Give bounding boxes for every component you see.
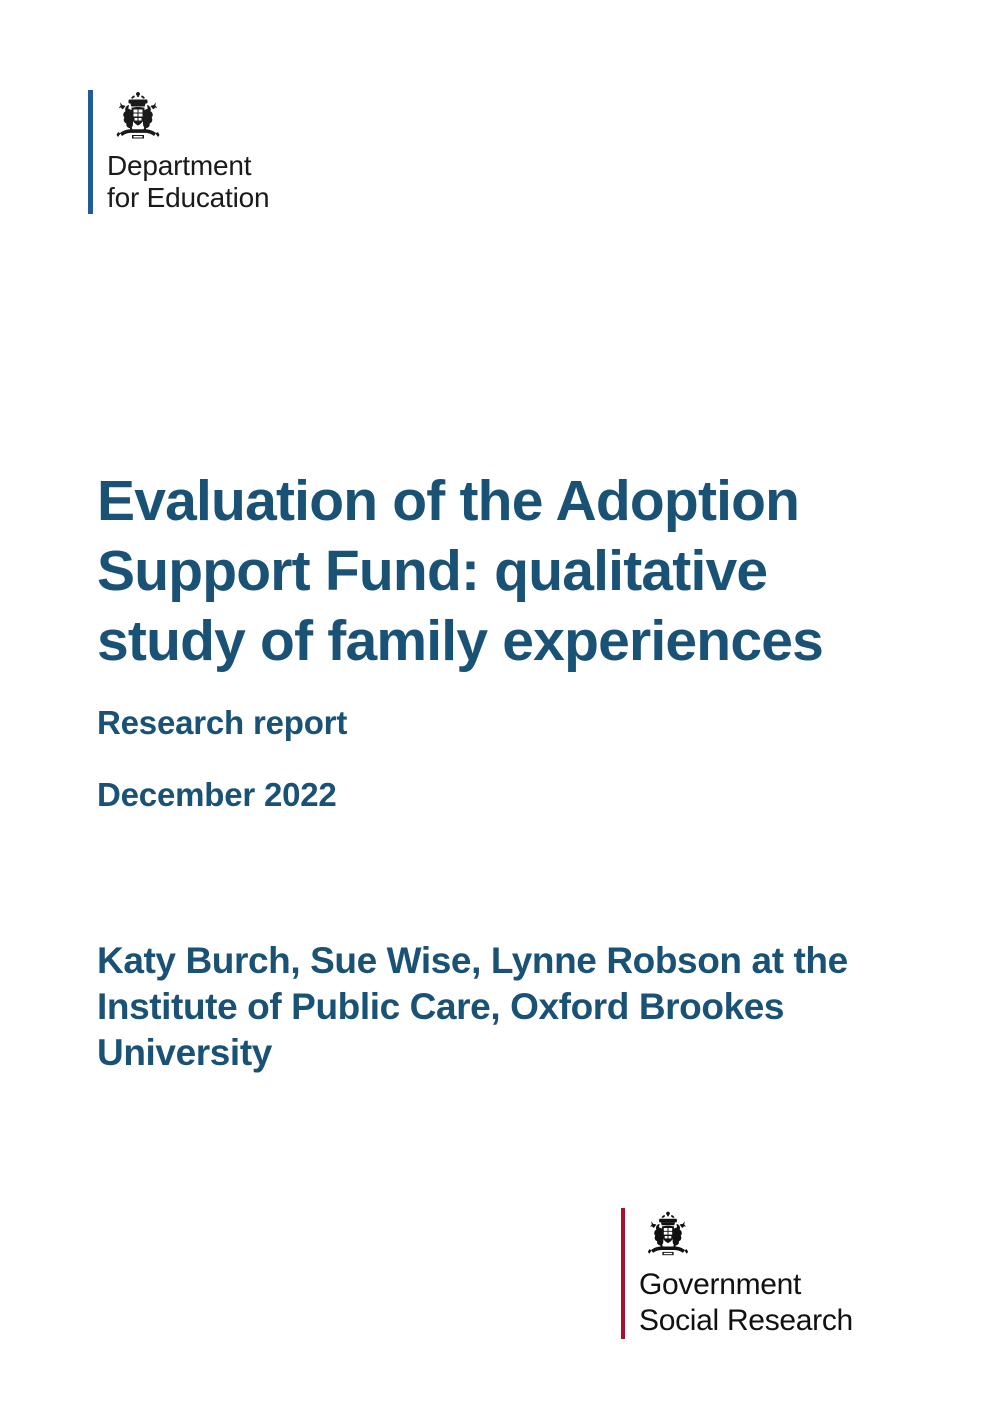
department-for-education-logo: Department for Education (88, 90, 269, 214)
authors-affiliation: Katy Burch, Sue Wise, Lynne Robson at th… (97, 938, 887, 1076)
government-social-research-logo: Government Social Research (621, 1208, 853, 1339)
royal-coat-of-arms-icon (107, 90, 169, 146)
publication-date: December 2022 (97, 744, 917, 816)
dfe-logo-text: Department for Education (107, 150, 269, 214)
gsr-logo-text: Government Social Research (639, 1267, 853, 1339)
report-subtitle: Research report (97, 676, 917, 744)
royal-coat-of-arms-icon (639, 1208, 697, 1264)
dfe-logo-body: Department for Education (93, 90, 269, 214)
title-block: Evaluation of the Adoption Support Fund:… (97, 466, 917, 816)
gsr-logo-body: Government Social Research (625, 1208, 853, 1339)
document-cover-page: Department for Education Evaluation of t… (0, 0, 991, 1401)
page-title: Evaluation of the Adoption Support Fund:… (97, 466, 917, 676)
